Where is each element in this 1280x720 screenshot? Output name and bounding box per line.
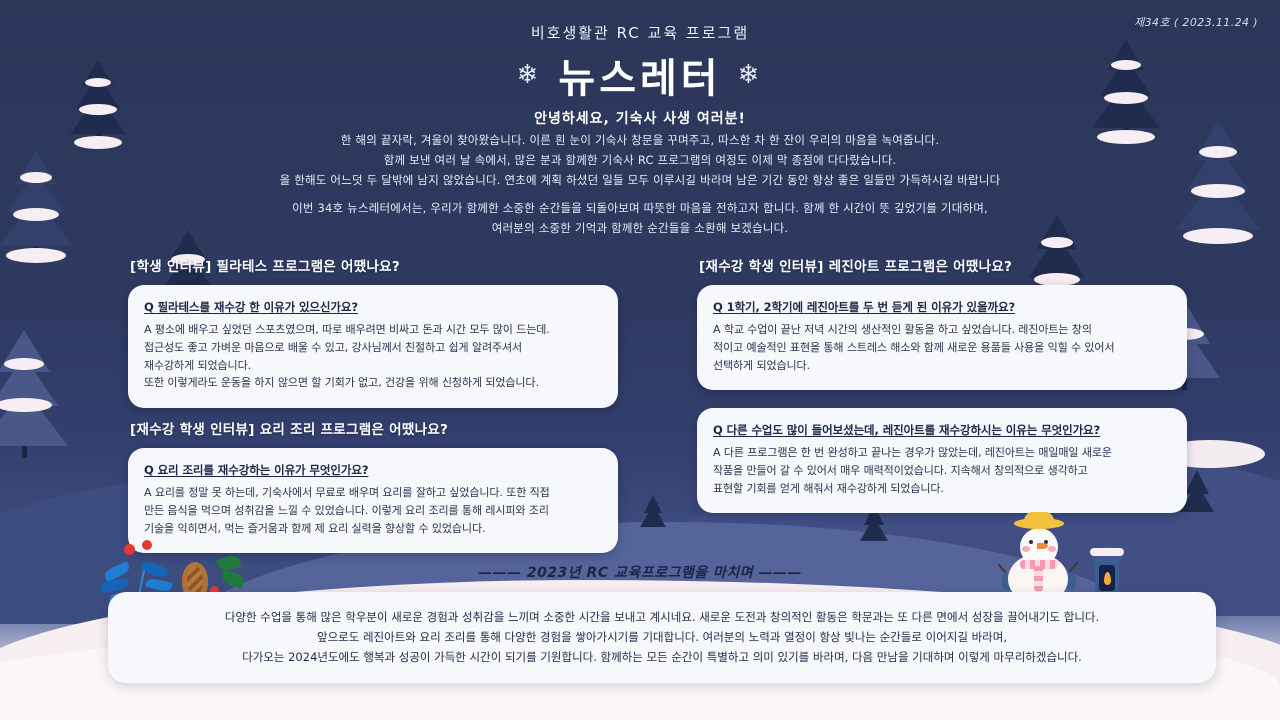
closing-panel: 다양한 수업을 통해 많은 학우분이 새로운 경험과 성취감을 느끼며 소중한 … (108, 592, 1216, 683)
page-title: ❄ 뉴스레터 ❄ (0, 46, 1280, 104)
answer-line: A 학교 수업이 끝난 저녁 시간의 생산적인 활동을 하고 싶었습니다. 레진… (713, 323, 1092, 336)
answer-line: 표현할 기회를 얻게 해줘서 재수강하게 되었습니다. (713, 482, 944, 495)
snowflake-icon: ❄ (517, 62, 543, 88)
greeting-text: 안녕하세요, 기숙사 사생 여러분! (0, 108, 1280, 128)
section-resinart: [재수강 학생 인터뷰] 레진아트 프로그램은 어땠나요? Q 1학기, 2학기… (697, 255, 1187, 390)
carrot-nose-icon (1037, 543, 1048, 549)
section-heading: [재수강 학생 인터뷰] 요리 조리 프로그램은 어땠나요? (130, 418, 618, 438)
closing-title: ——— 2023년 RC 교육프로그램을 마치며 ——— (0, 562, 1280, 582)
interview-card: Q 요리 조리를 재수강하는 이유가 무엇인가요? A 요리를 정말 못 하는데… (128, 448, 618, 553)
interview-card: Q 다른 수업도 많이 들어보셨는데, 레진아트를 재수강하시는 이유는 무엇인… (697, 408, 1187, 513)
closing-text: 다양한 수업을 통해 많은 학우분이 새로운 경험과 성취감을 느끼며 소중한 … (130, 608, 1194, 667)
closing-line: 다양한 수업을 통해 많은 학우분이 새로운 경험과 성취감을 느끼며 소중한 … (225, 610, 1099, 624)
lantern-snow-cap (1090, 548, 1124, 556)
interview-answer: A 요리를 정말 못 하는데, 기숙사에서 무료로 배우며 요리를 잘하고 싶었… (144, 484, 602, 537)
interview-card: Q 1학기, 2학기에 레진아트를 두 번 듣게 된 이유가 있을까요? A 학… (697, 285, 1187, 390)
interview-answer: A 평소에 배우고 싶었던 스포츠였으며, 따로 배우려면 비싸고 돈과 시간 … (144, 321, 602, 392)
intro-paragraph-2: 이번 34호 뉴스레터에서는, 우리가 함께한 소중한 순간들을 되돌아보며 따… (0, 198, 1280, 238)
pine-tree-icon (0, 330, 68, 458)
section-cooking: [재수강 학생 인터뷰] 요리 조리 프로그램은 어땠나요? Q 요리 조리를 … (128, 418, 618, 553)
intro-line: 여러분의 소중한 기억과 함께한 순간들을 소환해 보겠습니다. (0, 218, 1280, 238)
berry-icon (142, 540, 152, 550)
intro-line: 한 해의 끝자락, 겨울이 찾아왔습니다. 이른 흰 눈이 기숙사 창문을 꾸며… (0, 130, 1280, 150)
interview-card: Q 필라테스를 재수강 한 이유가 있으신가요? A 평소에 배우고 싶었던 스… (128, 285, 618, 408)
answer-line: 적이고 예술적인 표현을 통해 스트레스 해소와 함께 새로운 용품들 사용을 … (713, 341, 1114, 354)
closing-line: 다가오는 2024년도에도 행복과 성공이 가득한 시간이 되기를 기원합니다.… (242, 650, 1082, 664)
interview-answer: A 다른 프로그램은 한 번 완성하고 끝나는 경우가 많았는데, 레진아트는 … (713, 444, 1171, 497)
intro-line: 이번 34호 뉴스레터에서는, 우리가 함께한 소중한 순간들을 되돌아보며 따… (0, 198, 1280, 218)
intro-line: 함께 보낸 여러 날 속에서, 많은 분과 함께한 기숙사 RC 프로그램의 여… (0, 150, 1280, 170)
answer-line: 작품을 만들어 갈 수 있어서 매우 매력적이었습니다. 지속해서 창의적으로 … (713, 464, 1088, 477)
closing-line: 앞으로도 레진아트와 요리 조리를 통해 다양한 경험을 쌓아가시기를 기대합니… (317, 630, 1007, 644)
answer-line: 만든 음식을 먹으며 성취감을 느낄 수 있었습니다. 이렇게 요리 조리를 통… (144, 504, 549, 517)
interview-question: Q 요리 조리를 재수강하는 이유가 무엇인가요? (144, 462, 602, 478)
snowman-eye (1029, 540, 1033, 544)
answer-line: A 다른 프로그램은 한 번 완성하고 끝나는 경우가 많았는데, 레진아트는 … (713, 446, 1112, 459)
interview-question: Q 다른 수업도 많이 들어보셨는데, 레진아트를 재수강하시는 이유는 무엇인… (713, 422, 1171, 438)
masthead-text: 뉴스레터 (558, 46, 721, 104)
interview-question: Q 1학기, 2학기에 레진아트를 두 번 듣게 된 이유가 있을까요? (713, 299, 1171, 315)
answer-line: A 평소에 배우고 싶었던 스포츠였으며, 따로 배우려면 비싸고 돈과 시간 … (144, 323, 550, 336)
snowman-hat-crown (1024, 512, 1054, 526)
answer-line: 기술을 익히면서, 먹는 즐거움과 함께 제 요리 실력을 향상할 수 있었습니… (144, 522, 485, 535)
berry-icon (124, 544, 135, 555)
section-heading: [재수강 학생 인터뷰] 레진아트 프로그램은 어땠나요? (699, 255, 1187, 275)
pine-tree-icon (640, 495, 666, 527)
answer-line: 또한 이렇게라도 운동을 하지 않으면 할 기회가 없고, 건강을 위해 신청하… (144, 376, 539, 389)
snowflake-icon: ❄ (738, 62, 764, 88)
newsletter-page: 제34호 ( 2023.11.24 ) 비호생활관 RC 교육 프로그램 ❄ 뉴… (0, 0, 1280, 720)
section-resinart-followup: Q 다른 수업도 많이 들어보셨는데, 레진아트를 재수강하시는 이유는 무엇인… (697, 408, 1187, 513)
snowman-cheek (1022, 546, 1030, 552)
interview-answer: A 학교 수업이 끝난 저녁 시간의 생산적인 활동을 하고 싶었습니다. 레진… (713, 321, 1171, 374)
intro-paragraph-1: 한 해의 끝자락, 겨울이 찾아왔습니다. 이른 흰 눈이 기숙사 창문을 꾸며… (0, 130, 1280, 190)
answer-line: 선택하게 되었습니다. (713, 359, 810, 372)
section-heading: [학생 인터뷰] 필라테스 프로그램은 어땠나요? (130, 255, 618, 275)
interview-question: Q 필라테스를 재수강 한 이유가 있으신가요? (144, 299, 602, 315)
section-pilates: [학생 인터뷰] 필라테스 프로그램은 어땠나요? Q 필라테스를 재수강 한 … (128, 255, 618, 408)
answer-line: A 요리를 정말 못 하는데, 기숙사에서 무료로 배우며 요리를 잘하고 싶었… (144, 486, 550, 499)
snowman-cheek (1048, 546, 1056, 552)
answer-line: 접근성도 좋고 가벼운 마음으로 배울 수 있고, 강사님께서 친절하고 쉽게 … (144, 341, 522, 354)
intro-line: 올 한해도 어느덧 두 달밖에 남지 않았습니다. 연초에 계획 하셨던 일들 … (0, 170, 1280, 190)
answer-line: 재수강하게 되었습니다. (144, 359, 251, 372)
program-kicker: 비호생활관 RC 교육 프로그램 (0, 22, 1280, 43)
